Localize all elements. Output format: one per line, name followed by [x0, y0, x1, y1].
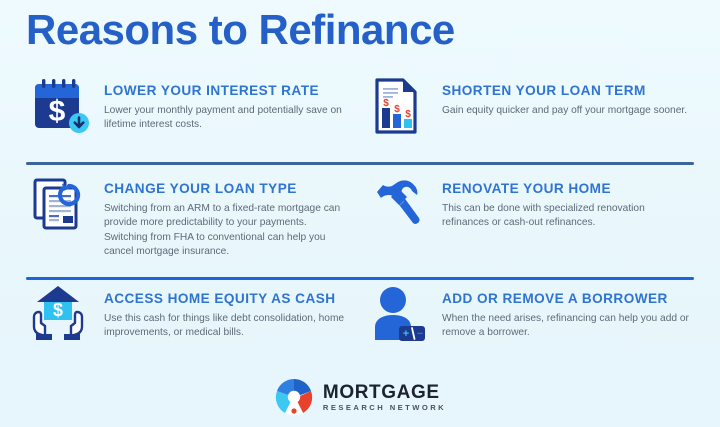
logo-sub-text: RESEARCH NETWORK	[323, 404, 446, 412]
person-add-remove-icon: + −	[364, 282, 436, 354]
reason-heading: CHANGE YOUR LOAN TYPE	[104, 182, 350, 197]
hammer-icon	[364, 172, 436, 244]
reason-item-shorten-loan-term: $ $ $ SHORTEN YOUR LOAN TERM Gain equity…	[352, 74, 720, 146]
reason-heading: RENOVATE YOUR HOME	[442, 182, 694, 197]
reason-body: When the need arises, refinancing can he…	[442, 312, 694, 341]
reasons-row: $ ACCESS HOME EQUITY AS CASH Use this ca…	[0, 282, 720, 354]
svg-text:+: +	[403, 328, 409, 340]
svg-text:$: $	[383, 98, 389, 109]
reasons-row: $ LOWER YOUR INTEREST RATE Lower your mo…	[0, 74, 720, 146]
svg-text:−: −	[417, 328, 423, 340]
reason-body: Switching from an ARM to a fixed-rate mo…	[104, 202, 350, 260]
reason-item-renovate-home: RENOVATE YOUR HOME This can be done with…	[352, 172, 720, 260]
reason-body: Use this cash for things like debt conso…	[104, 312, 350, 341]
reason-body: Lower your monthly payment and potential…	[104, 104, 350, 133]
svg-text:$: $	[49, 95, 66, 128]
reason-heading: SHORTEN YOUR LOAN TERM	[442, 84, 687, 99]
reason-text: RENOVATE YOUR HOME This can be done with…	[436, 172, 694, 231]
logo-wordmark: MORTGAGE RESEARCH NETWORK	[323, 383, 446, 412]
documents-refresh-icon	[26, 172, 98, 244]
footer-logo: MORTGAGE RESEARCH NETWORK	[0, 377, 720, 417]
reasons-grid: $ LOWER YOUR INTEREST RATE Lower your mo…	[0, 74, 720, 354]
reason-body: This can be done with specialized renova…	[442, 202, 694, 231]
svg-text:$: $	[405, 109, 411, 120]
reason-item-access-home-equity: $ ACCESS HOME EQUITY AS CASH Use this ca…	[0, 282, 352, 354]
infographic-canvas: Reasons to Refinance $	[0, 0, 720, 427]
logo-main-text: MORTGAGE	[323, 383, 446, 402]
reason-heading: ACCESS HOME EQUITY AS CASH	[104, 292, 350, 307]
reason-heading: ADD OR REMOVE A BORROWER	[442, 292, 694, 307]
gauge-circle-logo-icon	[274, 377, 314, 417]
reason-text: LOWER YOUR INTEREST RATE Lower your mont…	[98, 74, 350, 133]
page-title: Reasons to Refinance	[26, 9, 455, 51]
reason-text: ADD OR REMOVE A BORROWER When the need a…	[436, 282, 694, 341]
section-divider-2	[26, 277, 694, 280]
reason-item-add-remove-borrower: + − ADD OR REMOVE A BORROWER When the ne…	[352, 282, 720, 354]
section-divider-1	[26, 162, 694, 165]
reason-heading: LOWER YOUR INTEREST RATE	[104, 84, 350, 99]
hands-holding-house-dollar-icon: $	[26, 282, 98, 354]
reasons-row: CHANGE YOUR LOAN TYPE Switching from an …	[0, 172, 720, 260]
document-declining-bar-chart-icon: $ $ $	[364, 74, 436, 146]
reason-item-change-loan-type: CHANGE YOUR LOAN TYPE Switching from an …	[0, 172, 352, 260]
reason-text: ACCESS HOME EQUITY AS CASH Use this cash…	[98, 282, 350, 341]
reason-item-lower-interest-rate: $ LOWER YOUR INTEREST RATE Lower your mo…	[0, 74, 352, 146]
calendar-dollar-down-icon: $	[26, 74, 98, 146]
reason-body: Gain equity quicker and pay off your mor…	[442, 104, 687, 118]
svg-text:$: $	[394, 104, 400, 115]
reason-text: CHANGE YOUR LOAN TYPE Switching from an …	[98, 172, 350, 260]
reason-text: SHORTEN YOUR LOAN TERM Gain equity quick…	[436, 74, 687, 118]
svg-text:$: $	[53, 300, 63, 320]
